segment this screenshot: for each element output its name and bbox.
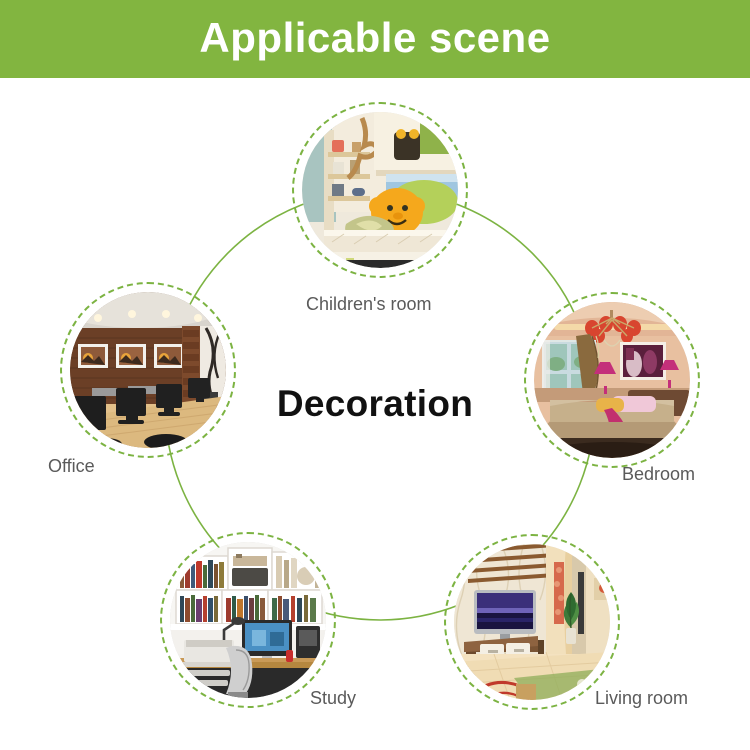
- header-banner: Applicable scene: [0, 0, 750, 78]
- dashed-ring-office: [60, 282, 236, 458]
- dashed-ring-study: [160, 532, 336, 708]
- node-office[interactable]: [60, 282, 236, 458]
- dashed-ring-living-room: [444, 534, 620, 710]
- node-study[interactable]: [160, 532, 336, 708]
- diagram-stage: Decoration: [0, 78, 750, 750]
- node-label-children-room: Children's room: [306, 294, 431, 315]
- node-label-study: Study: [310, 688, 356, 709]
- node-label-living-room: Living room: [595, 688, 688, 709]
- node-label-bedroom: Bedroom: [622, 464, 695, 485]
- applicable-scene-infographic: Applicable scene Decoration: [0, 0, 750, 750]
- dashed-ring-children-room: [292, 102, 468, 278]
- node-bedroom[interactable]: [524, 292, 700, 468]
- page-title: Applicable scene: [199, 17, 550, 59]
- node-children-room[interactable]: [292, 102, 468, 278]
- node-living-room[interactable]: [444, 534, 620, 710]
- dashed-ring-bedroom: [524, 292, 700, 468]
- node-label-office: Office: [48, 456, 95, 477]
